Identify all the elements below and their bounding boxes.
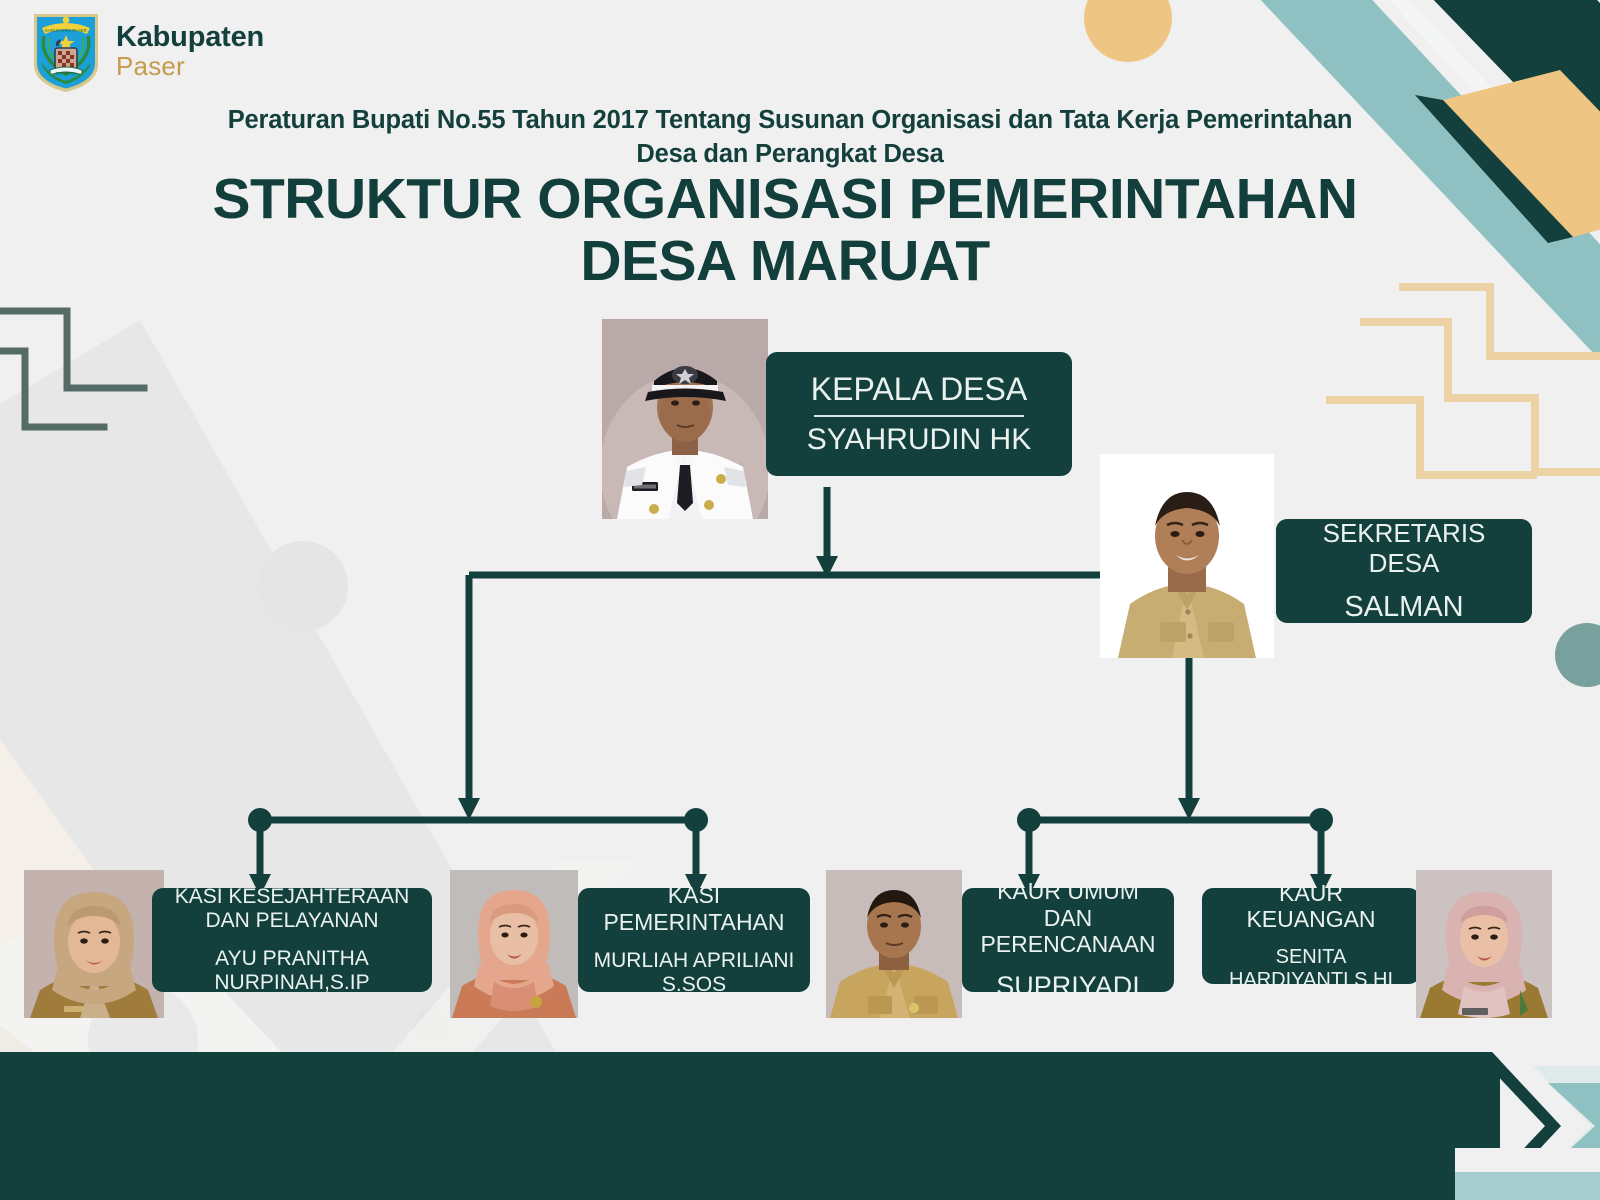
card-role-kaur-umum: KAUR UMUM DAN PERENCANAAN (974, 878, 1162, 958)
svg-text:KABUPATEN PASER: KABUPATEN PASER (45, 28, 87, 33)
regulation-subtitle: Peraturan Bupati No.55 Tahun 2017 Tentan… (180, 104, 1400, 171)
card-person-kaur-umum: SUPRIYADI (996, 971, 1140, 1002)
svg-text:Olah Bebaya: Olah Bebaya (56, 72, 77, 76)
card-divider (814, 415, 1024, 417)
card-kasi-kesejahteraan[interactable]: KASI KESEJAHTERAAN DAN PELAYANAN AYU PRA… (152, 888, 432, 992)
card-role-kasi-kesejahteraan: KASI KESEJAHTERAAN DAN PELAYANAN (166, 885, 418, 934)
card-role-sekretaris-desa: SEKRETARIS DESA (1294, 518, 1514, 578)
card-person-sekretaris-desa: SALMAN (1344, 591, 1463, 625)
photo-kepala-desa (602, 319, 768, 519)
card-kaur-umum[interactable]: KAUR UMUM DAN PERENCANAAN SUPRIYADI (962, 888, 1174, 992)
card-kasi-pemerintahan[interactable]: KASI PEMERINTAHAN MURLIAH APRILIANI S.SO… (578, 888, 810, 992)
card-role-kepala-desa: KEPALA DESA (811, 371, 1027, 408)
kabupaten-paser-crest-icon: KABUPATEN PASER Olah Bebaya (30, 8, 102, 94)
card-role-kaur-keuangan: KAUR KEUANGAN (1214, 880, 1408, 933)
regulation-line-1: Peraturan Bupati No.55 Tahun 2017 Tentan… (180, 104, 1400, 138)
card-person-kasi-pemerintahan: MURLIAH APRILIANI S.SOS (590, 949, 798, 998)
poster-canvas: KABUPATEN PASER Olah Bebaya Kabupaten Pa… (0, 0, 1600, 1200)
card-kaur-keuangan[interactable]: KAUR KEUANGAN SENITA HARDIYANTI S.HI (1202, 888, 1420, 984)
card-person-kaur-keuangan: SENITA HARDIYANTI S.HI (1214, 946, 1408, 992)
brand-lockup: KABUPATEN PASER Olah Bebaya Kabupaten Pa… (30, 8, 264, 94)
card-person-kasi-kesejahteraan: AYU PRANITHA NURPINAH,S.IP (166, 947, 418, 996)
brand-primary-label: Kabupaten (116, 22, 264, 52)
card-sekretaris-desa[interactable]: SEKRETARIS DESA SALMAN (1276, 519, 1532, 623)
card-kepala-desa[interactable]: KEPALA DESA SYAHRUDIN HK (766, 352, 1072, 476)
page-title-line-2: DESA MARUAT (150, 230, 1420, 292)
photo-kaur-keuangan (1416, 870, 1552, 1018)
card-role-kasi-pemerintahan: KASI PEMERINTAHAN (590, 882, 798, 935)
photo-kasi-kesejahteraan (24, 870, 164, 1018)
photo-kaur-umum (826, 870, 962, 1018)
brand-secondary-label: Paser (116, 53, 264, 80)
page-title-line-1: STRUKTUR ORGANISASI PEMERINTAHAN (150, 168, 1420, 230)
page-title: STRUKTUR ORGANISASI PEMERINTAHAN DESA MA… (150, 168, 1420, 292)
photo-sekretaris-desa (1100, 454, 1274, 658)
photo-kasi-pemerintahan (450, 870, 578, 1018)
card-person-kepala-desa: SYAHRUDIN HK (807, 423, 1031, 458)
footer-bar (0, 1052, 1600, 1200)
